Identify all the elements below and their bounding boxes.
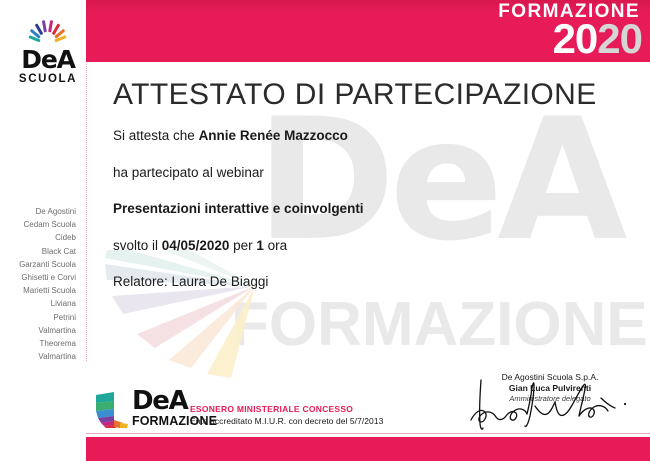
brand-item: Valmartina [0,350,76,363]
dea-scuola-logo: DeA SCUOLA [14,18,82,85]
course-title: Presentazioni interattive e coinvolgenti [113,201,543,217]
accreditation-block: ESONERO MINISTERIALE CONCESSO Ente accre… [190,404,383,427]
header-band: FORMAZIONE 2020 [86,0,650,62]
signature-block: De Agostini Scuola S.p.A. Gian Luca Pulv… [455,372,645,404]
brand-item: Theorema [0,337,76,350]
handwritten-signature-icon [463,376,643,434]
footer-band [86,437,650,461]
footer-fan-icon [94,390,130,428]
intro-prefix: Si attesta che [113,128,199,143]
brand-item: Cideb [0,231,76,244]
header-year-first: 20 [553,15,598,62]
brand-item: Garzanti Scuola [0,258,76,271]
participant-name: Annie Renée Mazzocco [199,128,348,143]
brand-item: Marietti Scuola [0,284,76,297]
page-title: ATTESTATO DI PARTECIPAZIONE [113,78,597,112]
duration-unit: ora [264,238,287,253]
brand-item: Liviana [0,297,76,310]
brand-item: De Agostini [0,205,76,218]
participant-line: Si attesta che Annie Renée Mazzocco [113,128,543,144]
brand-list: De Agostini Cedam Scuola Cideb Black Cat… [0,205,76,363]
accreditation-text: Ente accreditato M.I.U.R. con decreto de… [190,416,383,427]
header-year: 2020 [498,18,642,60]
accreditation-title: ESONERO MINISTERIALE CONCESSO [190,404,383,415]
date-duration-line: svolto il 04/05/2020 per 1 ora [113,238,543,254]
brand-item: Ghisetti e Corvi [0,271,76,284]
course-date: 04/05/2020 [162,238,230,253]
brand-item: Black Cat [0,245,76,258]
participation-line: ha partecipato al webinar [113,165,543,181]
certificate-page: FORMAZIONE 2020 DeA FORMAZIONE [0,0,650,461]
certificate-body: Si attesta che Annie Renée Mazzocco ha p… [113,128,543,311]
logo-brand-text: DeA [14,47,82,72]
duration-value: 1 [256,238,264,253]
brand-item: Valmartina [0,324,76,337]
brand-item: Cedam Scuola [0,218,76,231]
date-prefix: svolto il [113,238,162,253]
program-year-block: FORMAZIONE 2020 [498,2,642,60]
speaker-line: Relatore: Laura De Biaggi [113,274,543,290]
header-year-second: 20 [597,15,642,62]
vertical-dotted-divider [86,62,87,361]
logo-subbrand-text: SCUOLA [14,73,82,85]
brand-item: Petrini [0,311,76,324]
logo-fan-icon [17,18,79,44]
duration-prefix: per [229,238,256,253]
